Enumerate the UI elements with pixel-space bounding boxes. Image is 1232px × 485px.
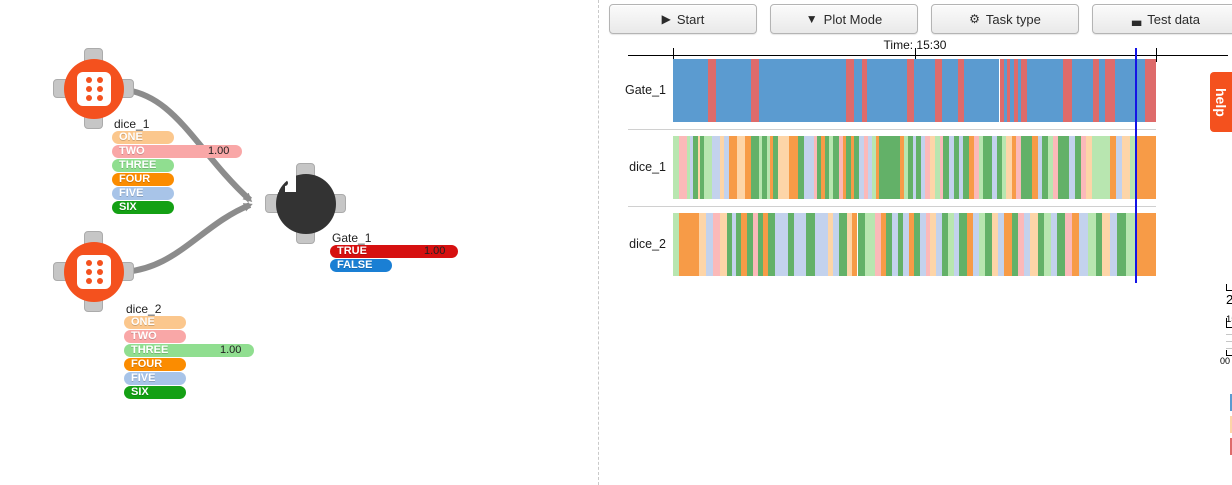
- timeline-segment: [854, 59, 862, 122]
- timeline-track[interactable]: [673, 59, 1156, 122]
- prob-bar-label: SIX: [119, 201, 137, 214]
- timeline-segment: [1058, 136, 1069, 199]
- timeline-segment: [1115, 59, 1145, 122]
- timeline-segment: [1065, 213, 1072, 276]
- timeline-segment: [1105, 59, 1115, 122]
- timeline-segment: [699, 213, 706, 276]
- toolbar-button-label: Start: [677, 12, 704, 27]
- timeline-segment: [865, 213, 875, 276]
- timeline-segment: [706, 213, 713, 276]
- prob-bar-row: SIX: [112, 201, 149, 214]
- prob-bar-row: SIX: [124, 386, 161, 399]
- toolbar-button-label: Task type: [986, 12, 1041, 27]
- bargroup-bars: TRUE1.00FALSE: [330, 245, 371, 272]
- timeline-segment: [935, 59, 942, 122]
- timeline-segment: [751, 136, 759, 199]
- timeline-row-label: dice_2: [598, 237, 666, 251]
- prob-bar-label: FOUR: [131, 358, 162, 371]
- puzzle-icon: [265, 163, 299, 197]
- minute-axis-label: 00: [1220, 356, 1230, 366]
- prob-bar-label: ONE: [131, 316, 155, 329]
- timeline-segment: [789, 136, 798, 199]
- graph-canvas[interactable]: dice_1 ONETWO1.00THREEFOURFIVESIX dice_2…: [0, 0, 598, 485]
- prob-bar-row: FIVE: [112, 187, 149, 200]
- bar-chart-icon: ▃: [1132, 13, 1141, 25]
- timeline-segment: [858, 213, 866, 276]
- prob-bar-label: FOUR: [119, 173, 150, 186]
- prob-bar-row: FALSE: [330, 259, 371, 272]
- prob-bar-row: FIVE: [124, 372, 161, 385]
- prob-bar-value: 1.00: [220, 344, 241, 357]
- prob-bar-label: FIVE: [131, 372, 155, 385]
- toolbar-button-label: Plot Mode: [824, 12, 883, 27]
- prob-bar-value: 1.00: [208, 145, 229, 158]
- navigator-line-mid: [1226, 341, 1232, 342]
- timeline-segment: [914, 59, 935, 122]
- bargroup-bars: ONETWO1.00THREEFOURFIVESIX: [112, 131, 149, 214]
- prob-bar-label: TWO: [131, 330, 157, 343]
- timeline-segment: [983, 136, 992, 199]
- toolbar-button-task-type[interactable]: ⚙Task type: [931, 4, 1079, 34]
- timeline-segment: [942, 213, 949, 276]
- prob-bar-row: ONE: [112, 131, 149, 144]
- prob-bar-label: TWO: [119, 145, 145, 158]
- timeline-segment: [964, 59, 999, 122]
- timeline-segment: [942, 59, 958, 122]
- timeline-segment: [846, 59, 854, 122]
- prob-bar-label: THREE: [119, 159, 156, 172]
- prob-bar-row: TRUE1.00: [330, 245, 371, 258]
- timeline-segment: [713, 213, 720, 276]
- timeline-segment: [704, 136, 712, 199]
- timeline-track[interactable]: [673, 213, 1156, 276]
- bargroup-bars: ONETWOTHREE1.00FOURFIVESIX: [124, 316, 161, 399]
- bargroup-gate-1: Gate_1 TRUE1.00FALSE: [330, 232, 371, 273]
- time-cursor[interactable]: [1135, 48, 1137, 283]
- timeline-segment: [720, 213, 727, 276]
- timeline-segment: [716, 59, 751, 122]
- timeline-segment: [778, 136, 789, 199]
- timeline-segment: [712, 136, 721, 199]
- timeline-segment: [1057, 213, 1065, 276]
- timeline-segment: [806, 213, 815, 276]
- timeline-segment: [804, 136, 813, 199]
- timeline-segment: [759, 59, 845, 122]
- prob-bar-row: THREE: [112, 159, 149, 172]
- bargroup-title: dice_1: [112, 118, 149, 131]
- timeline-segment: [673, 59, 708, 122]
- timeline-segment: [768, 213, 775, 276]
- node-dice-2[interactable]: [53, 231, 135, 313]
- bargroup-title: dice_2: [124, 303, 161, 316]
- timeline-track[interactable]: [673, 136, 1156, 199]
- play-icon: ▶: [662, 13, 671, 25]
- prob-bar-row: TWO1.00: [112, 145, 149, 158]
- timeline-segment: [1030, 213, 1038, 276]
- day-axis-label: 29: [1226, 292, 1232, 307]
- prob-bar-label: SIX: [131, 386, 149, 399]
- app-root: dice_1 ONETWO1.00THREEFOURFIVESIX dice_2…: [0, 0, 1232, 485]
- timeline-segment: [1024, 213, 1031, 276]
- timeline-segment: [1079, 213, 1088, 276]
- bargroup-dice-1: dice_1 ONETWO1.00THREEFOURFIVESIX: [112, 118, 149, 215]
- timeline-segment: [1092, 136, 1110, 199]
- prob-bar-row: ONE: [124, 316, 161, 329]
- timeline-row-separator: [628, 129, 1156, 130]
- timeline-segment: [867, 59, 907, 122]
- timeline-segment: [1027, 59, 1064, 122]
- timeline-segment: [1145, 59, 1156, 122]
- timeline-segment: [985, 213, 992, 276]
- timeline-segment: [679, 136, 687, 199]
- timeline-segment: [1102, 213, 1110, 276]
- prob-bar-label: FALSE: [337, 259, 372, 272]
- timeline-segment: [1004, 213, 1012, 276]
- timeline-segment: [737, 136, 745, 199]
- timeline-segment: [775, 213, 789, 276]
- toolbar: ▶Start▼Plot Mode⚙Task type▃Test data: [609, 4, 1232, 34]
- prob-bar-value: 1.00: [424, 245, 445, 258]
- navigator-line-bot: [1226, 348, 1232, 349]
- timeline-segment: [679, 213, 699, 276]
- time-axis-label: 15:00: [1226, 314, 1232, 325]
- timeline-segment: [959, 213, 967, 276]
- plot-top-rule: [628, 55, 1228, 56]
- timeline-segment: [1088, 213, 1096, 276]
- timeline-segment: [1135, 136, 1156, 199]
- timeline-segment: [729, 136, 738, 199]
- prob-bar-label: TRUE: [337, 245, 367, 258]
- prob-bar-label: ONE: [119, 131, 143, 144]
- timeline-segment: [1044, 213, 1051, 276]
- timeline-segment: [1072, 59, 1093, 122]
- bargroup-title: Gate_1: [330, 232, 371, 245]
- timeline-row-label: Gate_1: [598, 83, 666, 97]
- timeline-segment: [1096, 213, 1103, 276]
- prob-bar-row: FOUR: [112, 173, 149, 186]
- toolbar-button-test-data[interactable]: ▃Test data: [1092, 4, 1232, 34]
- right-panel: ▶Start▼Plot Mode⚙Task type▃Test data Tim…: [598, 0, 1232, 485]
- timeline-row-label: dice_1: [598, 160, 666, 174]
- timeline-row-separator: [628, 206, 1156, 207]
- help-tab[interactable]: help: [1210, 72, 1232, 132]
- bargroup-dice-2: dice_2 ONETWOTHREE1.00FOURFIVESIX: [124, 303, 161, 400]
- timeline-segment: [708, 59, 716, 122]
- plot-top-tick: [1156, 48, 1157, 62]
- prob-bar-label: FIVE: [119, 187, 143, 200]
- timeline-segment: [879, 136, 899, 199]
- navigator-line-top: [1226, 334, 1232, 335]
- prob-bar-row: TWO: [124, 330, 161, 343]
- die-icon: [77, 255, 111, 289]
- timeline-segment: [794, 213, 806, 276]
- timeline-plot[interactable]: Time: 15:30 Gate_1dice_1dice_2: [598, 38, 1232, 288]
- toolbar-button-plot-mode[interactable]: ▼Plot Mode: [770, 4, 918, 34]
- timeline-segment: [751, 59, 760, 122]
- chevron-down-icon: ▼: [806, 13, 818, 25]
- prob-bar-row: THREE1.00: [124, 344, 161, 357]
- timeline-segment: [839, 213, 847, 276]
- prob-bar-label: THREE: [131, 344, 168, 357]
- timeline-segment: [907, 59, 914, 122]
- timeline-segment: [815, 213, 829, 276]
- timeline-segment: [1117, 213, 1126, 276]
- gear-icon: ⚙: [969, 13, 980, 25]
- timeline-segment: [1110, 213, 1117, 276]
- toolbar-button-label: Test data: [1147, 12, 1200, 27]
- prob-bar-row: FOUR: [124, 358, 161, 371]
- die-icon: [77, 72, 111, 106]
- edge-dice2-gate: [118, 205, 250, 272]
- timeline-segment: [1136, 213, 1156, 276]
- timeline-segment: [1072, 213, 1079, 276]
- toolbar-button-start[interactable]: ▶Start: [609, 4, 757, 34]
- day-axis-tick: [1226, 284, 1227, 291]
- timeline-segment: [1122, 136, 1130, 199]
- timeline-segment: [1021, 136, 1033, 199]
- timeline-segment: [1063, 59, 1072, 122]
